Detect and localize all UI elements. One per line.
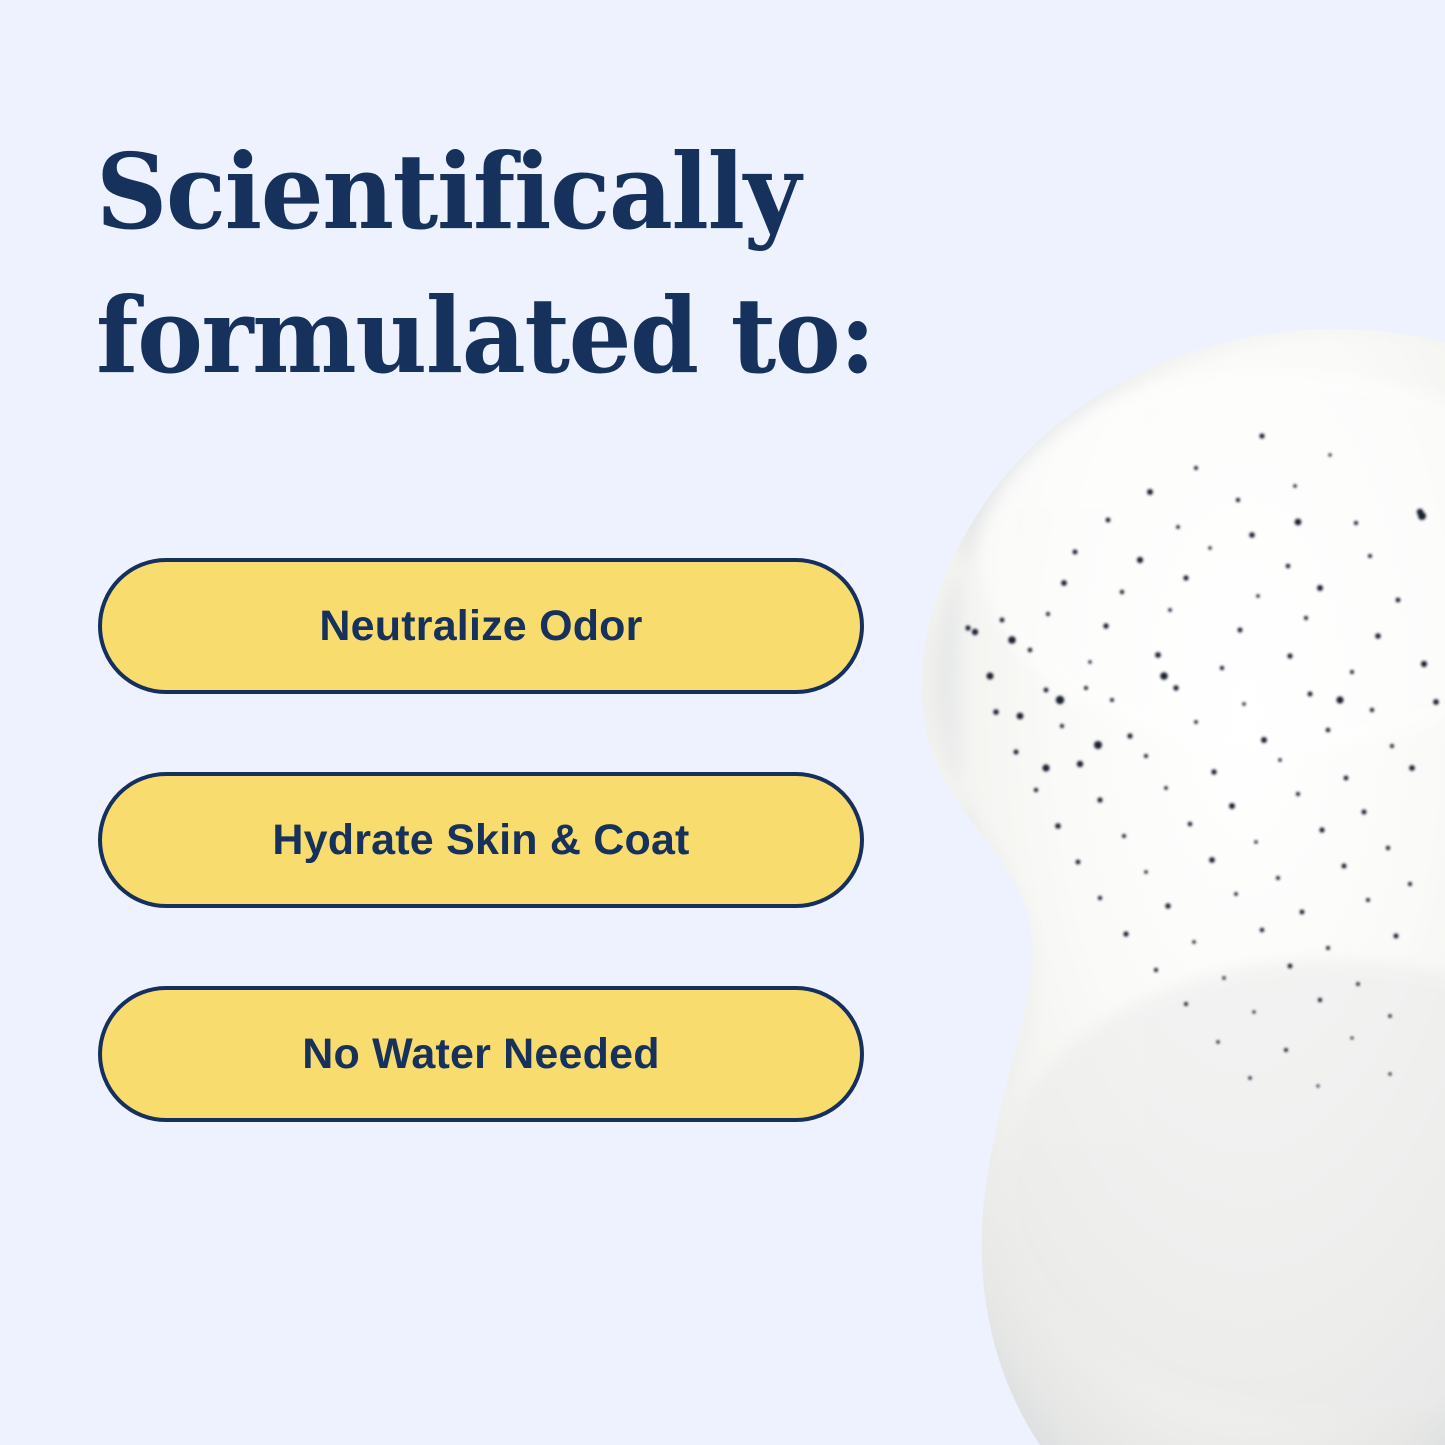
benefit-pill-neutralize-odor[interactable]: Neutralize Odor (98, 558, 864, 694)
headline-line-2: formulated to: (96, 264, 913, 408)
benefits-list: Neutralize Odor Hydrate Skin & Coat No W… (98, 558, 864, 1122)
benefit-pill-label: Neutralize Odor (319, 602, 642, 651)
promo-canvas: Scientifically formulated to: Neutralize… (0, 0, 1445, 1445)
benefit-pill-hydrate-skin-coat[interactable]: Hydrate Skin & Coat (98, 772, 864, 908)
benefit-pill-no-water-needed[interactable]: No Water Needed (98, 986, 864, 1122)
benefit-pill-label: No Water Needed (302, 1030, 659, 1079)
page-title: Scientifically formulated to: (96, 120, 956, 407)
benefit-pill-label: Hydrate Skin & Coat (272, 816, 689, 865)
headline-line-1: Scientifically (96, 120, 913, 264)
